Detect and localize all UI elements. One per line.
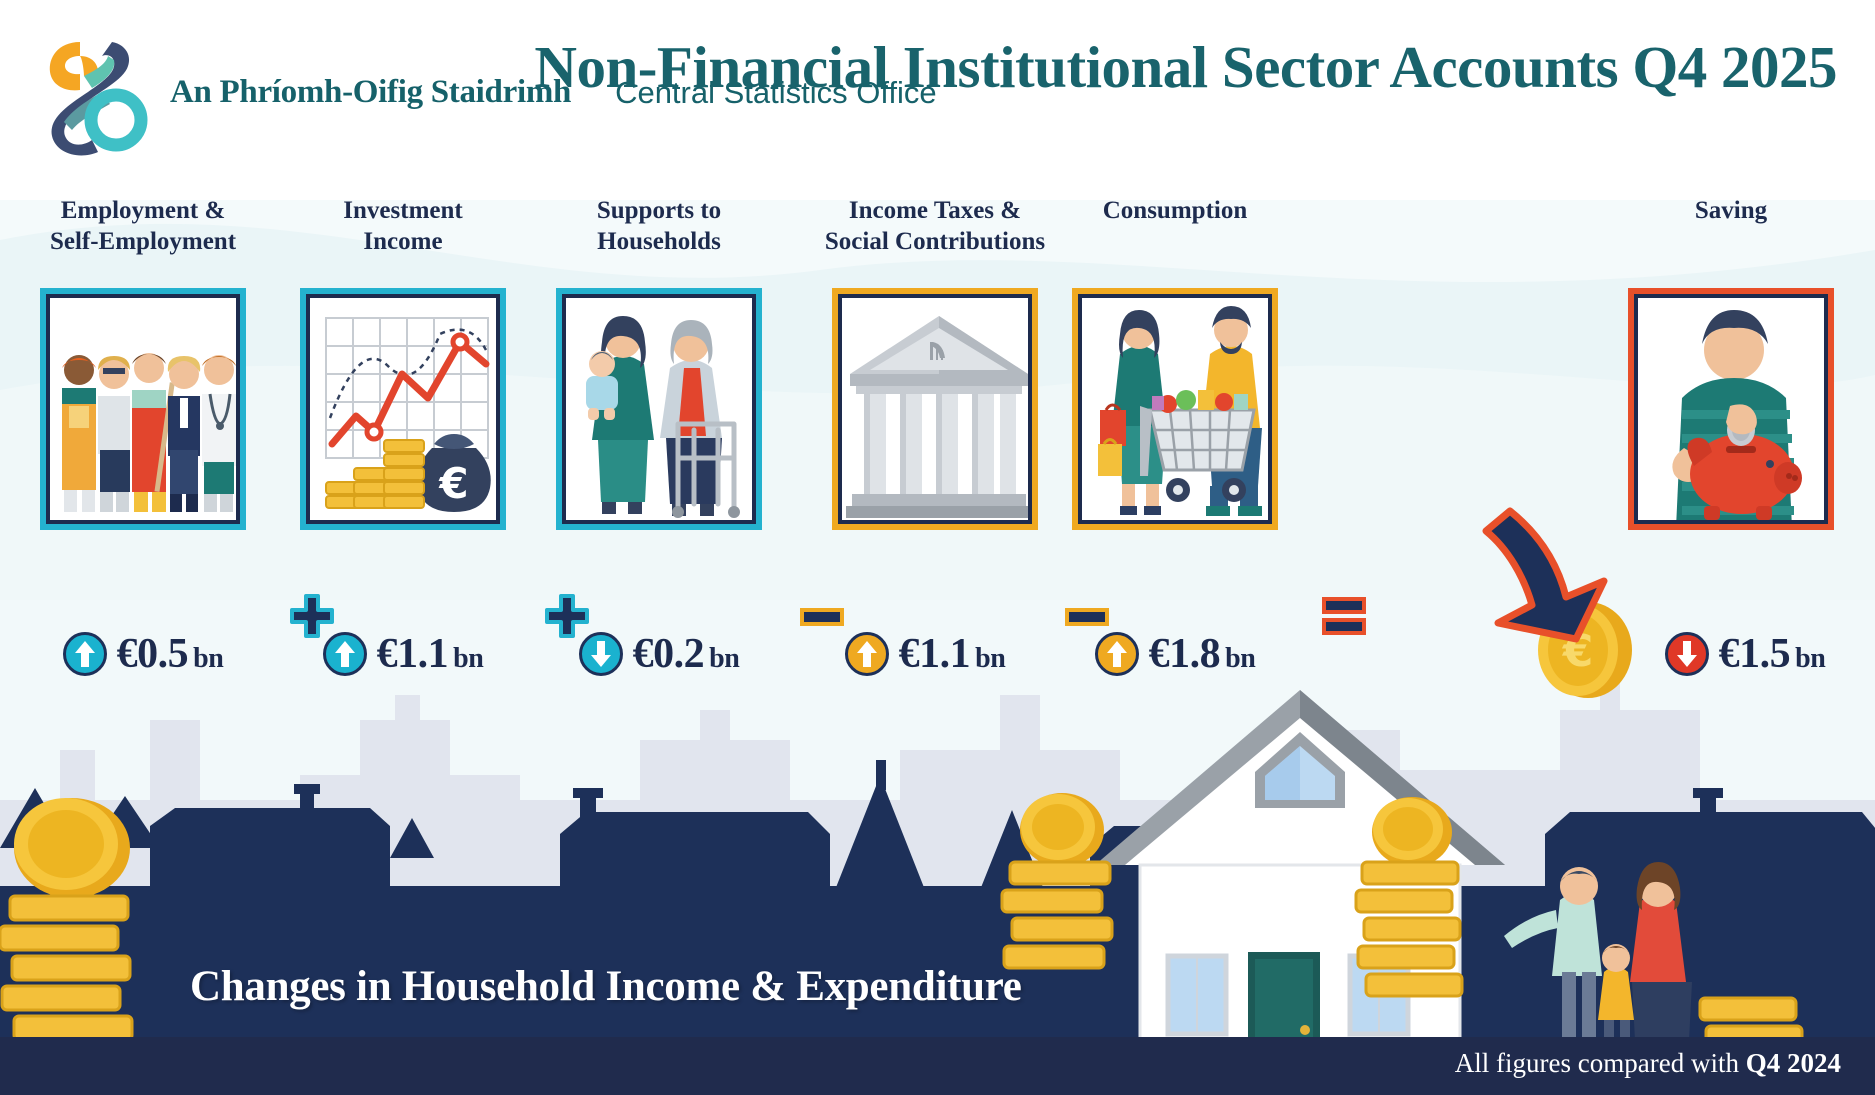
column-label-supports-to-households: Supports to Households <box>534 196 784 258</box>
flow-column-investment-income[interactable]: Investment Income <box>278 196 528 258</box>
column-label-income-taxes: Income Taxes & Social Contributions <box>790 196 1080 258</box>
flow-column-consumption[interactable]: Consumption <box>1050 196 1300 227</box>
arrow-down-icon-saving <box>1665 632 1709 676</box>
value-saving: €1.5bn <box>1620 630 1870 678</box>
arrow-down-icon-supports-to-households <box>579 632 623 676</box>
government-building-icon <box>842 298 1032 524</box>
page-title: Non-Financial Institutional Sector Accou… <box>534 34 1837 100</box>
arrow-up-icon-consumption <box>1095 632 1139 676</box>
footnote-period: Q4 2024 <box>1746 1048 1841 1078</box>
arrow-up-icon-employment <box>63 632 107 676</box>
value-amount-employment: €0.5bn <box>117 630 224 678</box>
panel-consumption <box>1072 288 1278 530</box>
saving-decrease-arrow-icon <box>1480 505 1630 645</box>
panel-investment-income: € <box>300 288 506 530</box>
svg-text:€: € <box>438 459 468 508</box>
panel-supports-to-households <box>556 288 762 530</box>
flow-column-employment[interactable]: Employment & Self-Employment <box>18 196 268 258</box>
logo-name-irish: An Phríomh-Oifig Staidrimh <box>170 74 571 111</box>
value-amount-saving: €1.5bn <box>1719 630 1826 678</box>
panel-employment <box>40 288 246 530</box>
value-investment-income: €1.1bn <box>278 630 528 678</box>
coin-stack-left <box>0 798 132 1070</box>
workers-group-icon <box>50 298 240 524</box>
flow-column-supports-to-households[interactable]: Supports to Households <box>534 196 784 258</box>
value-consumption: €1.8bn <box>1050 630 1300 678</box>
value-amount-investment-income: €1.1bn <box>377 630 484 678</box>
arrow-up-icon-investment-income <box>323 632 367 676</box>
value-supports-to-households: €0.2bn <box>534 630 784 678</box>
value-employment: €0.5bn <box>18 630 268 678</box>
value-amount-supports-to-households: €0.2bn <box>633 630 740 678</box>
footnote-prefix: All figures compared with <box>1455 1048 1746 1078</box>
column-label-employment: Employment & Self-Employment <box>18 196 268 258</box>
page-header: An Phríomh-Oifig Staidrimh Central Stati… <box>0 0 1875 200</box>
banner-title: Changes in Household Income & Expenditur… <box>190 962 1022 1011</box>
flow-column-income-taxes[interactable]: Income Taxes & Social Contributions <box>790 196 1080 258</box>
panel-income-taxes <box>832 288 1038 530</box>
piggy-bank-saver-icon <box>1638 298 1828 524</box>
infographic-root: An Phríomh-Oifig Staidrimh Central Stati… <box>0 0 1875 1095</box>
value-income-taxes: €1.1bn <box>800 630 1050 678</box>
flow-column-saving[interactable]: Saving <box>1606 196 1856 227</box>
value-amount-income-taxes: €1.1bn <box>899 630 1006 678</box>
panel-saving <box>1628 288 1834 530</box>
shoppers-trolley-icon <box>1082 298 1272 524</box>
arrow-up-icon-income-taxes <box>845 632 889 676</box>
family-carer-icon <box>566 298 756 524</box>
column-label-investment-income: Investment Income <box>278 196 528 258</box>
value-amount-consumption: €1.8bn <box>1149 630 1256 678</box>
footnote: All figures compared with Q4 2024 <box>1455 1048 1841 1079</box>
column-label-saving: Saving <box>1606 196 1856 227</box>
growth-chart-money-bag-icon: € <box>310 298 500 524</box>
operator-minus-1-icon <box>798 600 846 634</box>
cso-ribbon-logo-icon <box>40 28 148 156</box>
operator-minus-2-icon <box>1063 600 1111 634</box>
column-label-consumption: Consumption <box>1050 196 1300 227</box>
